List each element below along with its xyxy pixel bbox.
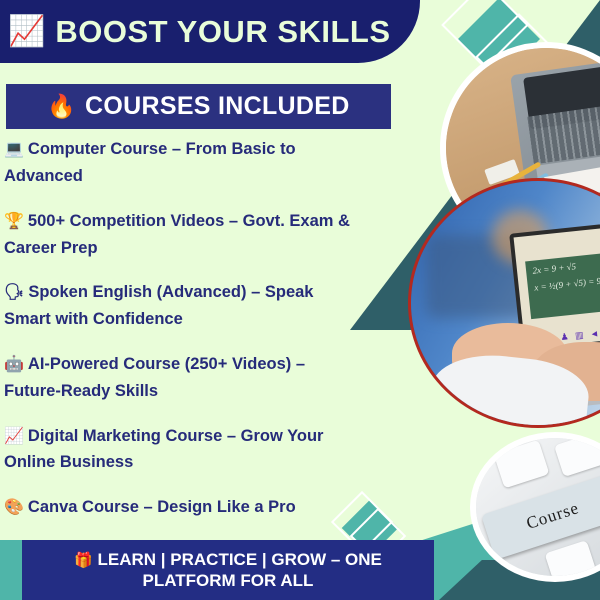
laptop-icon: 💻 — [4, 141, 24, 158]
fire-icon: 🔥 — [47, 95, 76, 118]
page-title: BOOST YOUR SKILLS — [55, 14, 390, 50]
footer-text: 🎁 LEARN | PRACTICE | GROW – ONE PLATFORM… — [22, 549, 434, 592]
artist-palette-icon: 🎨 — [4, 499, 24, 516]
chart-increasing-icon: 📈 — [4, 428, 24, 445]
courses-included-banner: 🔥 COURSES INCLUDED — [6, 84, 391, 129]
list-item: 🗣Spoken English (Advanced) – Speak Smart… — [4, 279, 356, 333]
list-item: 💻Computer Course – From Basic to Advance… — [4, 136, 356, 190]
footer-banner: 🎁 LEARN | PRACTICE | GROW – ONE PLATFORM… — [22, 540, 434, 600]
list-item: 🏆500+ Competition Videos – Govt. Exam & … — [4, 208, 356, 262]
list-item: 🎨Canva Course – Design Like a Pro — [4, 494, 356, 521]
header-banner: 📈 BOOST YOUR SKILLS — [0, 0, 420, 63]
poster-canvas: Online 2x = 9 + √5 x = ½(9 + √5) = 9/2 +… — [0, 0, 600, 600]
list-item: 🤖AI-Powered Course (250+ Videos) – Futur… — [4, 351, 356, 405]
trophy-icon: 🏆 — [4, 213, 24, 230]
list-item-label: Spoken English (Advanced) – Speak Smart … — [4, 283, 313, 328]
list-item-label: 500+ Competition Videos – Govt. Exam & C… — [4, 212, 350, 257]
gift-icon: 🎁 — [74, 552, 93, 569]
list-item-label: AI-Powered Course (250+ Videos) – Future… — [4, 355, 305, 400]
course-list: 💻Computer Course – From Basic to Advance… — [4, 136, 356, 539]
robot-icon: 🤖 — [4, 356, 24, 373]
photo-hands-typing: Online 2x = 9 + √5 x = ½(9 + √5) = 9/2 +… — [408, 178, 600, 428]
chart-increasing-icon: 📈 — [8, 17, 45, 47]
course-key-label: Course — [525, 499, 583, 535]
section-title: COURSES INCLUDED — [85, 92, 350, 121]
list-item-label: Canva Course – Design Like a Pro — [28, 498, 296, 516]
footer-teal-strip — [0, 540, 22, 600]
list-item-label: Computer Course – From Basic to Advanced — [4, 140, 296, 185]
list-item-label: Digital Marketing Course – Grow Your Onl… — [4, 427, 323, 472]
speaking-head-icon: 🗣 — [4, 284, 24, 301]
list-item: 📈Digital Marketing Course – Grow Your On… — [4, 423, 356, 477]
footer-label: LEARN | PRACTICE | GROW – ONE PLATFORM F… — [98, 550, 382, 591]
photo-keyboard-course-key: Course — [470, 432, 600, 582]
blackboard: 2x = 9 + √5 x = ½(9 + √5) = 9/2 + √5/2 — [525, 246, 600, 320]
